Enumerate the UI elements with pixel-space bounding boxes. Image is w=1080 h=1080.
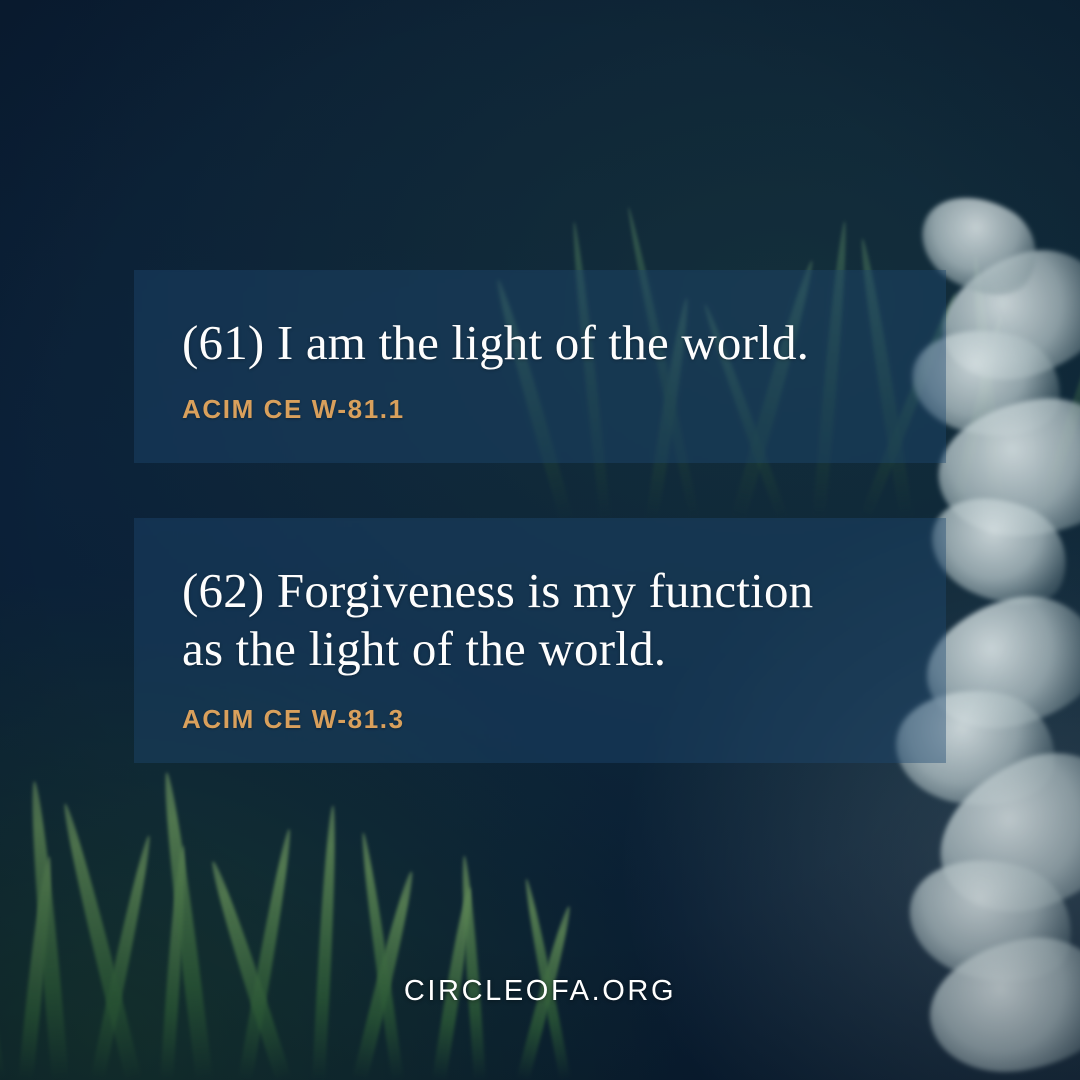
quote-card-2: (62) Forgiveness is my function as the l… xyxy=(134,518,946,763)
quote-text-1: (61) I am the light of the world. xyxy=(182,314,896,372)
footer-website-url: CIRCLEOFA.ORG xyxy=(404,975,676,1007)
footer: CIRCLEOFA.ORG xyxy=(0,975,1080,1008)
quote-attribution-2: ACIM CE W-81.3 xyxy=(182,704,896,735)
quote-card-1: (61) I am the light of the world. ACIM C… xyxy=(134,270,946,463)
quote-attribution-1: ACIM CE W-81.1 xyxy=(182,394,896,425)
quote-text-2: (62) Forgiveness is my function as the l… xyxy=(182,562,896,678)
quote-graphic: (61) I am the light of the world. ACIM C… xyxy=(0,0,1080,1080)
